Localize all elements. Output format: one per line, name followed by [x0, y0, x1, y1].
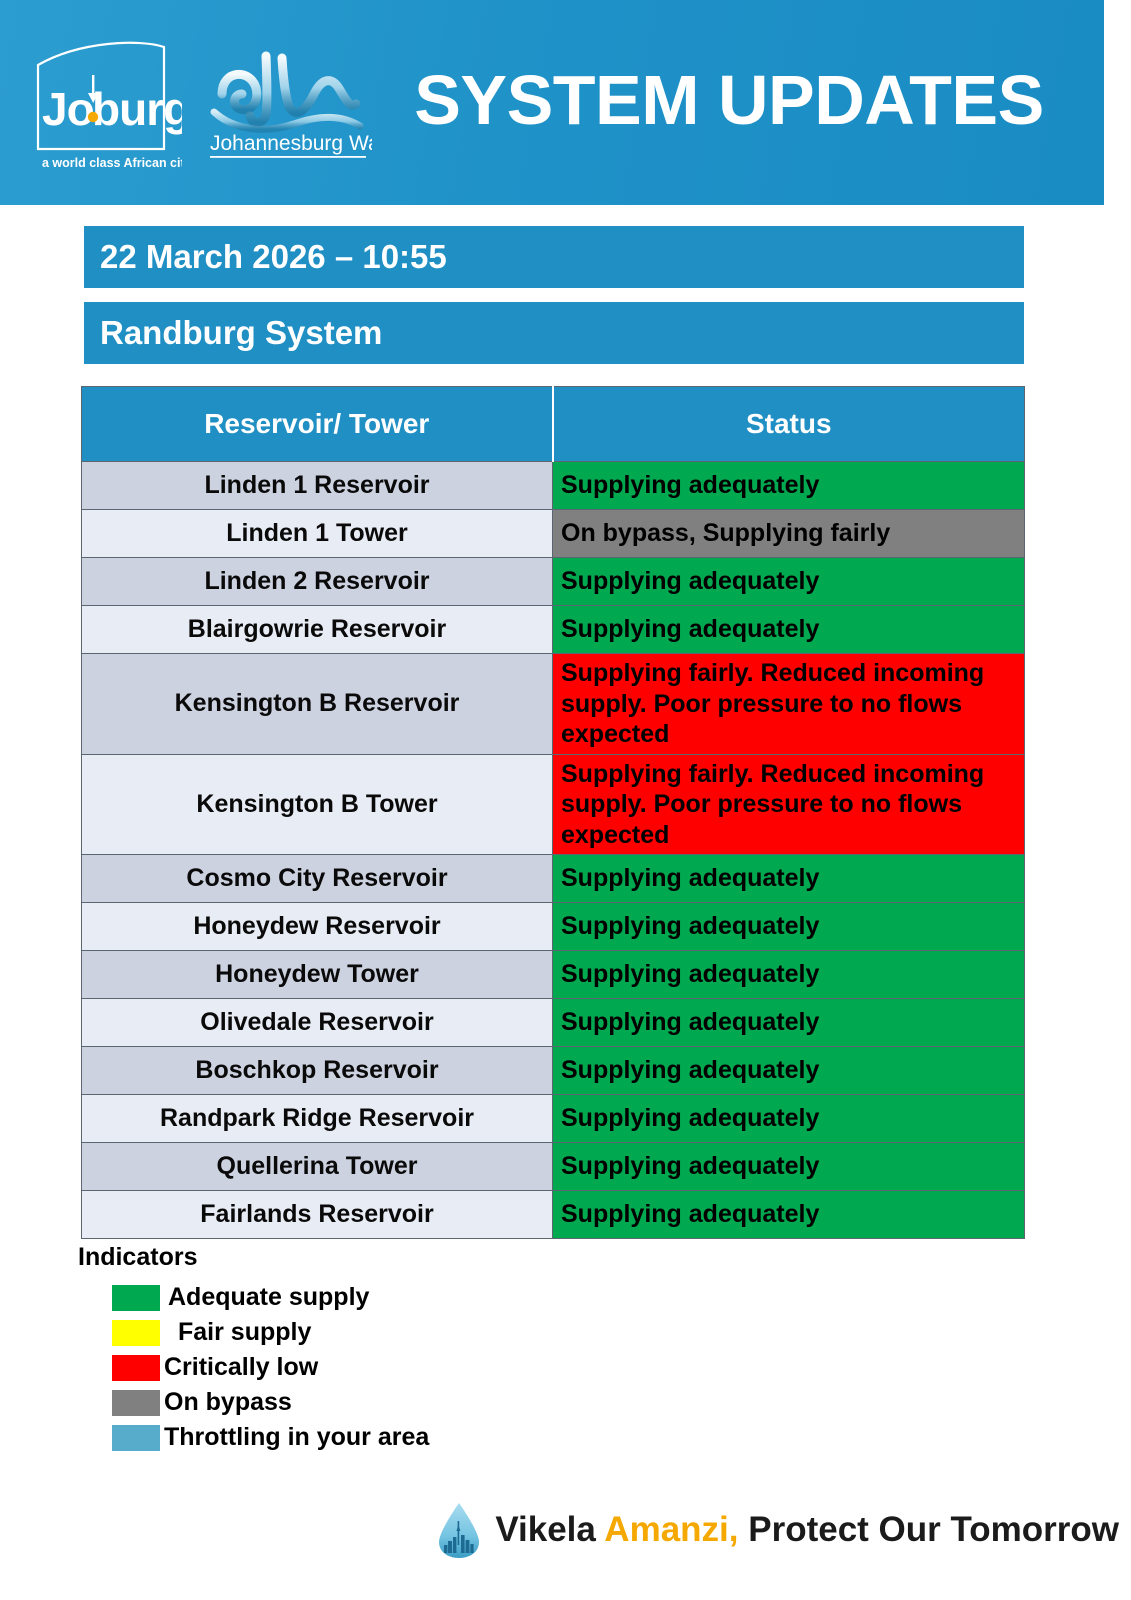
- legend-color-swatch: [112, 1320, 160, 1346]
- reservoir-name-cell: Linden 1 Tower: [82, 510, 553, 558]
- legend-label: On bypass: [164, 1388, 292, 1417]
- table-row: Kensington B ReservoirSupplying fairly. …: [82, 654, 1025, 755]
- tagline-highlight: Amanzi,: [604, 1510, 738, 1549]
- column-header-status: Status: [553, 387, 1025, 462]
- date-time-bar: 22 March 2026 – 10:55: [84, 226, 1024, 288]
- table-row: Linden 2 ReservoirSupplying adequately: [82, 558, 1025, 606]
- table-row: Kensington B TowerSupplying fairly. Redu…: [82, 754, 1025, 855]
- reservoir-name-cell: Fairlands Reservoir: [82, 1191, 553, 1239]
- reservoir-name-cell: Cosmo City Reservoir: [82, 855, 553, 903]
- reservoir-name-cell: Honeydew Reservoir: [82, 903, 553, 951]
- reservoir-name-cell: Olivedale Reservoir: [82, 999, 553, 1047]
- status-cell: Supplying adequately: [553, 558, 1025, 606]
- status-cell: Supplying adequately: [553, 855, 1025, 903]
- reservoir-name-cell: Quellerina Tower: [82, 1143, 553, 1191]
- legend-item: On bypass: [78, 1385, 598, 1420]
- legend-list: Adequate supplyFair supplyCritically low…: [78, 1280, 598, 1455]
- jw-logo-svg: Johannesburg Water: [204, 42, 372, 164]
- header-banner: Jo burg a world class African city: [0, 0, 1104, 205]
- indicators-legend: Indicators Adequate supplyFair supplyCri…: [78, 1243, 598, 1455]
- legend-item: Critically low: [78, 1350, 598, 1385]
- table-header-row: Reservoir/ Tower Status: [82, 387, 1025, 462]
- status-cell: Supplying adequately: [553, 606, 1025, 654]
- reservoir-name-cell: Boschkop Reservoir: [82, 1047, 553, 1095]
- table-row: Olivedale ReservoirSupplying adequately: [82, 999, 1025, 1047]
- status-cell: Supplying fairly. Reduced incoming suppl…: [553, 654, 1025, 755]
- reservoir-name-cell: Kensington B Reservoir: [82, 654, 553, 755]
- status-cell: Supplying adequately: [553, 1191, 1025, 1239]
- legend-label: Fair supply: [178, 1318, 311, 1347]
- footer-tagline-bar: Vikela Amanzi, Protect Our Tomorrow: [0, 1490, 1131, 1570]
- tagline-part1: Vikela: [495, 1510, 604, 1549]
- column-header-reservoir-tower: Reservoir/ Tower: [82, 387, 553, 462]
- joburg-city-logo: Jo burg a world class African city: [30, 33, 182, 173]
- legend-item: Adequate supply: [78, 1280, 598, 1315]
- system-updates-page: Jo burg a world class African city: [0, 0, 1131, 1600]
- jw-logo-text: Johannesburg Water: [210, 132, 372, 155]
- reservoir-name-cell: Kensington B Tower: [82, 754, 553, 855]
- table-row: Boschkop ReservoirSupplying adequately: [82, 1047, 1025, 1095]
- legend-color-swatch: [112, 1390, 160, 1416]
- johannesburg-water-logo: Johannesburg Water: [204, 42, 372, 164]
- reservoir-name-cell: Randpark Ridge Reservoir: [82, 1095, 553, 1143]
- table-row: Linden 1 TowerOn bypass, Supplying fairl…: [82, 510, 1025, 558]
- reservoir-name-cell: Linden 2 Reservoir: [82, 558, 553, 606]
- system-name-bar: Randburg System: [84, 302, 1024, 364]
- table-row: Linden 1 ReservoirSupplying adequately: [82, 462, 1025, 510]
- table-head: Reservoir/ Tower Status: [82, 387, 1025, 462]
- table-row: Honeydew ReservoirSupplying adequately: [82, 903, 1025, 951]
- legend-color-swatch: [112, 1285, 160, 1311]
- table-row: Cosmo City ReservoirSupplying adequately: [82, 855, 1025, 903]
- status-cell: Supplying adequately: [553, 1047, 1025, 1095]
- legend-item: Fair supply: [78, 1315, 598, 1350]
- joburg-logo-svg: Jo burg a world class African city: [30, 33, 182, 173]
- reservoir-name-cell: Honeydew Tower: [82, 951, 553, 999]
- legend-label: Throttling in your area: [164, 1423, 429, 1452]
- table-row: Fairlands ReservoirSupplying adequately: [82, 1191, 1025, 1239]
- status-cell: On bypass, Supplying fairly: [553, 510, 1025, 558]
- table-row: Randpark Ridge ReservoirSupplying adequa…: [82, 1095, 1025, 1143]
- water-drop-icon: [437, 1501, 481, 1559]
- legend-color-swatch: [112, 1355, 160, 1381]
- status-cell: Supplying adequately: [553, 1143, 1025, 1191]
- svg-text:burg: burg: [92, 83, 182, 135]
- table-row: Quellerina TowerSupplying adequately: [82, 1143, 1025, 1191]
- status-cell: Supplying adequately: [553, 1095, 1025, 1143]
- status-cell: Supplying adequately: [553, 462, 1025, 510]
- status-cell: Supplying fairly. Reduced incoming suppl…: [553, 754, 1025, 855]
- reservoir-status-table: Reservoir/ Tower Status Linden 1 Reservo…: [81, 386, 1025, 1239]
- svg-text:Jo: Jo: [42, 83, 94, 135]
- legend-label: Adequate supply: [168, 1283, 369, 1312]
- legend-item: Throttling in your area: [78, 1420, 598, 1455]
- tagline-text: Vikela Amanzi, Protect Our Tomorrow: [495, 1510, 1119, 1550]
- tagline-part2: Protect Our Tomorrow: [739, 1510, 1120, 1549]
- page-title: SYSTEM UPDATES: [372, 65, 1104, 141]
- table-body: Linden 1 ReservoirSupplying adequatelyLi…: [82, 462, 1025, 1239]
- legend-label: Critically low: [164, 1353, 318, 1382]
- table-row: Blairgowrie ReservoirSupplying adequatel…: [82, 606, 1025, 654]
- reservoir-name-cell: Blairgowrie Reservoir: [82, 606, 553, 654]
- status-cell: Supplying adequately: [553, 903, 1025, 951]
- table-row: Honeydew TowerSupplying adequately: [82, 951, 1025, 999]
- status-cell: Supplying adequately: [553, 951, 1025, 999]
- indicators-title: Indicators: [78, 1243, 598, 1272]
- legend-color-swatch: [112, 1425, 160, 1451]
- status-cell: Supplying adequately: [553, 999, 1025, 1047]
- reservoir-name-cell: Linden 1 Reservoir: [82, 462, 553, 510]
- joburg-tagline: a world class African city: [42, 156, 182, 170]
